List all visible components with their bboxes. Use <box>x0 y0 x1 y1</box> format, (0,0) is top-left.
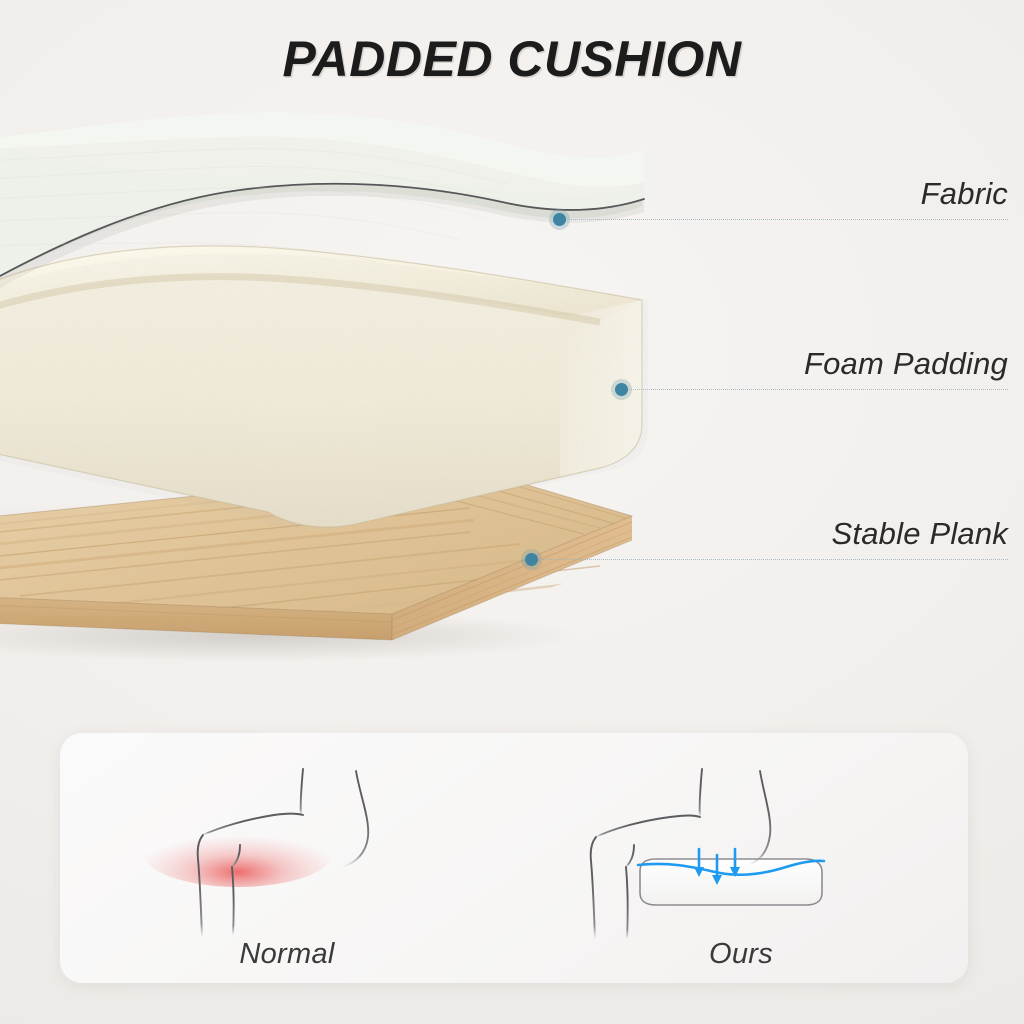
knee-front-line <box>591 837 596 939</box>
foam-layer <box>0 240 680 540</box>
callout-dot-fabric <box>553 213 566 226</box>
comparison-caption-normal: Normal <box>60 938 514 971</box>
callout-leader-fabric <box>567 218 1008 220</box>
callout-foam-padding: Foam Padding <box>615 346 1008 390</box>
callout-dot-foam-padding <box>615 383 628 396</box>
thigh-bottom-line <box>626 845 634 867</box>
buttock-line <box>342 771 368 867</box>
callout-label-foam-padding: Foam Padding <box>804 346 1008 382</box>
torso-back-line <box>301 769 303 815</box>
pressure-glow <box>143 819 333 887</box>
callout-fabric: Fabric <box>553 176 1008 220</box>
callout-label-fabric: Fabric <box>921 176 1008 212</box>
buttock-line <box>748 771 770 865</box>
comparison-ours: Ours <box>514 733 968 983</box>
comparison-caption-ours: Ours <box>514 938 968 971</box>
product-infographic: PADDED CUSHION <box>0 0 1024 1024</box>
thigh-top-line <box>596 816 700 838</box>
comparison-normal: Normal <box>60 733 514 983</box>
cushion-shape <box>640 859 822 905</box>
calf-back-line <box>232 867 234 935</box>
callout-dot-stable-plank <box>525 553 538 566</box>
callout-leader-foam-padding <box>629 388 1008 390</box>
callout-label-stable-plank: Stable Plank <box>832 516 1008 552</box>
torso-back-line <box>700 769 702 817</box>
callout-stable-plank: Stable Plank <box>525 516 1008 560</box>
callout-leader-stable-plank <box>539 558 1008 560</box>
calf-back-line <box>626 867 628 939</box>
comparison-card: Normal <box>60 733 968 983</box>
